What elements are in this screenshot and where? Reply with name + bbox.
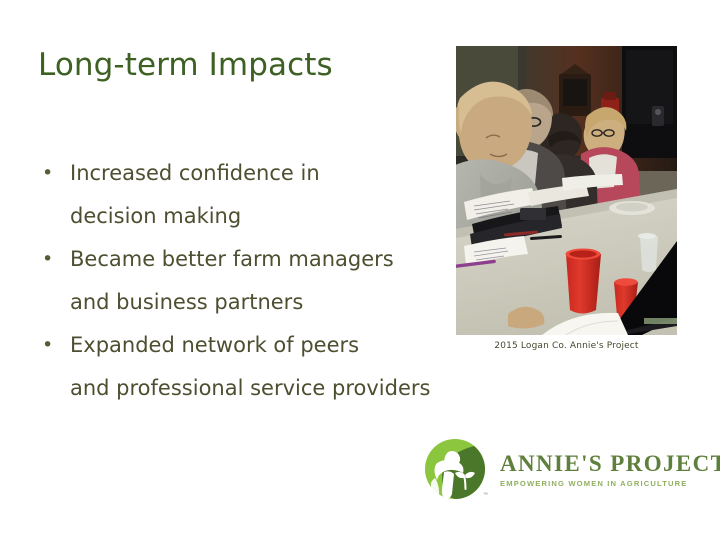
photo-caption: 2015 Logan Co. Annie's Project	[456, 341, 677, 351]
list-item: • Increased confidence in decision makin…	[30, 152, 500, 238]
bullet-point-icon: •	[42, 152, 52, 195]
bullet-point-icon: •	[42, 324, 52, 367]
bullet-text-line-2: and business partners	[70, 281, 500, 324]
bullet-point-icon: •	[42, 238, 52, 281]
list-item: • Became better farm managers and busine…	[30, 238, 500, 324]
annies-project-logo: ™ ANNIE'S PROJECT EMPOWERING WOMEN IN AG…	[424, 436, 682, 502]
list-item: • Expanded network of peers and professi…	[30, 324, 500, 410]
bullet-list: • Increased confidence in decision makin…	[30, 152, 500, 410]
bullet-text-line-1: Became better farm managers	[70, 247, 394, 271]
logo-wordmark: ANNIE'S PROJECT	[500, 452, 720, 475]
trademark-symbol: ™	[483, 492, 488, 498]
bullet-text-line-1: Increased confidence in	[70, 161, 320, 185]
meeting-photo	[456, 46, 677, 335]
logo-tagline: EMPOWERING WOMEN IN AGRICULTURE	[500, 480, 720, 488]
bullet-text-line-2: decision making	[70, 195, 500, 238]
bullet-text-line-2: and professional service providers	[70, 367, 500, 410]
page-title: Long-term Impacts	[38, 48, 438, 84]
bullet-text-line-1: Expanded network of peers	[70, 333, 359, 357]
logo-text-block: ANNIE'S PROJECT EMPOWERING WOMEN IN AGRI…	[500, 450, 720, 488]
annies-project-logo-mark: ™	[424, 438, 486, 500]
